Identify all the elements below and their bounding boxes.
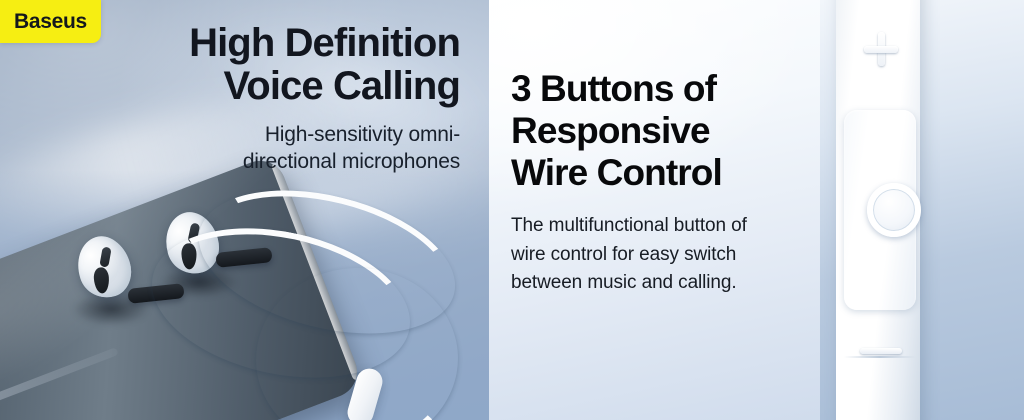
left-photo-panel: High Definition Voice Calling High-sensi… — [0, 0, 489, 420]
brand-name: Baseus — [14, 10, 87, 34]
right-body-text: The multifunctional button of wire contr… — [511, 212, 831, 296]
left-subheading-line-1: High-sensitivity omni- — [130, 122, 460, 148]
product-banner: High Definition Voice Calling High-sensi… — [0, 0, 1024, 420]
right-headline: 3 Buttons of Responsive Wire Control — [511, 68, 831, 193]
earbud-vent-slot — [99, 246, 111, 267]
multifunction-button-icon — [867, 183, 921, 237]
remote-seam-line — [844, 356, 916, 358]
left-headline-line-2: Voice Calling — [130, 65, 460, 108]
left-subheading-line-2: directional microphones — [130, 149, 460, 175]
remote-product-photo — [820, 0, 1024, 420]
right-info-panel: 3 Buttons of Responsive Wire Control The… — [489, 0, 1024, 420]
right-body-line-1: The multifunctional button of — [511, 212, 831, 240]
right-headline-line-1: 3 Buttons of — [511, 68, 831, 110]
left-subheading: High-sensitivity omni- directional micro… — [130, 122, 460, 175]
right-text-block: 3 Buttons of Responsive Wire Control The… — [511, 68, 831, 297]
right-body-line-2: wire control for easy switch — [511, 241, 831, 269]
volume-up-icon — [864, 32, 898, 66]
right-body-line-3: between music and calling. — [511, 269, 831, 297]
right-headline-line-2: Responsive — [511, 110, 831, 152]
baseus-logo-badge: Baseus — [0, 0, 101, 43]
left-headline: High Definition Voice Calling — [130, 22, 460, 108]
right-headline-line-3: Wire Control — [511, 152, 831, 194]
left-headline-line-1: High Definition — [130, 22, 460, 65]
earbud-nozzle — [93, 267, 110, 294]
left-text-block: High Definition Voice Calling High-sensi… — [130, 22, 460, 175]
volume-down-icon — [860, 348, 902, 354]
